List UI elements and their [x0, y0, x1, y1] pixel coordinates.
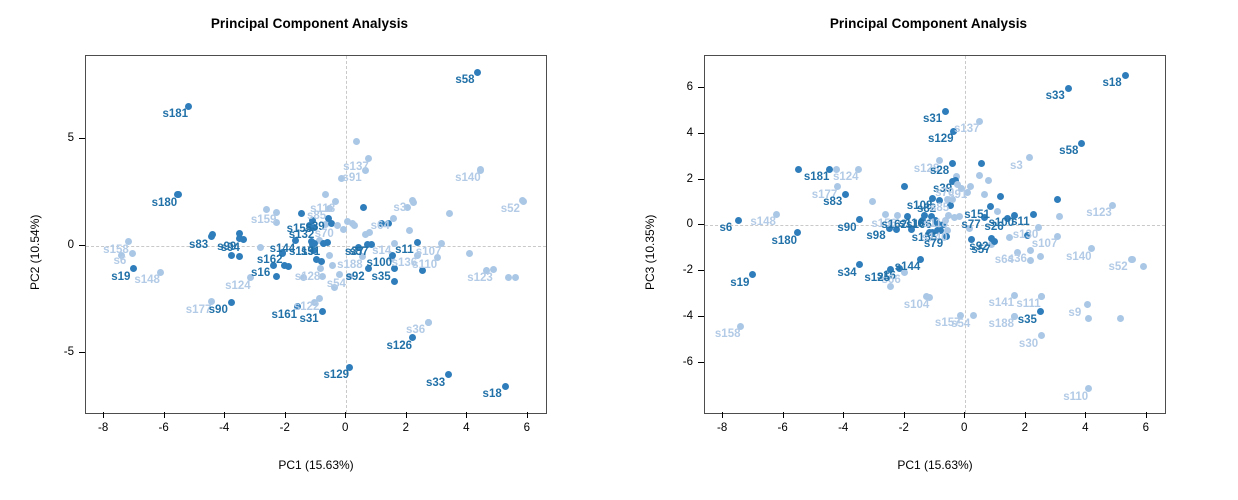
x-tick-mark [843, 412, 844, 418]
point-label: s125 [864, 273, 890, 285]
point-label: s107 [1032, 239, 1058, 251]
scatter-point [997, 193, 1004, 200]
y-tick-mark [698, 316, 704, 317]
scatter-point [976, 172, 983, 179]
pca-figure: Principal Component Analysis s58s181s137… [0, 0, 1238, 500]
y-axis-title: PC3 (10.35%) [643, 215, 657, 290]
point-label: s34 [837, 268, 856, 280]
scatter-point [1085, 315, 1092, 322]
point-label: s98 [866, 231, 885, 243]
scatter-point [520, 198, 527, 205]
y-tick-label: -2 [683, 264, 693, 276]
point-label: s35 [1018, 315, 1037, 327]
point-label: s124 [833, 172, 859, 184]
point-label: s33 [1046, 91, 1065, 103]
point-label: s18 [1102, 78, 1121, 90]
point-label: s57 [971, 245, 990, 257]
plot-area-pc1-pc2: s58s181s137s91s140s180s118s3s52s85s159s6… [85, 55, 547, 414]
point-label: s118 [923, 219, 948, 231]
point-label: s30 [1019, 339, 1038, 351]
point-label: s31 [923, 114, 942, 126]
scatter-point [263, 206, 270, 213]
point-label: s70 [315, 229, 334, 241]
y-tick-label: 0 [687, 218, 693, 230]
panel-title: Principal Component Analysis [0, 16, 619, 31]
scatter-point [1038, 332, 1045, 339]
x-tick-label: -4 [838, 422, 848, 434]
y-axis-title: PC2 (10.54%) [28, 215, 42, 290]
point-label: s52 [1109, 262, 1128, 274]
point-label: s177 [186, 305, 212, 317]
y-tick-mark [698, 133, 704, 134]
scatter-point [406, 227, 413, 234]
point-label: s58 [455, 75, 474, 87]
scatter-point [1037, 253, 1044, 260]
x-tick-label: 6 [524, 422, 530, 434]
scatter-point [329, 262, 336, 269]
point-label: s90 [209, 305, 228, 317]
scatter-point [991, 238, 998, 245]
point-label: s58 [1059, 146, 1078, 158]
point-label: s77 [961, 220, 980, 232]
point-label: s137 [954, 124, 980, 136]
x-tick-label: -2 [280, 422, 290, 434]
point-label: s52 [501, 204, 520, 216]
point-label: s94 [221, 243, 240, 255]
scatter-point [942, 108, 949, 115]
scatter-point [1056, 213, 1063, 220]
scatter-point [978, 160, 985, 167]
point-label: s162 [257, 255, 283, 267]
point-label: s83 [189, 240, 208, 252]
scatter-point [856, 261, 863, 268]
x-tick-label: 2 [403, 422, 409, 434]
x-tick-label: -8 [717, 422, 727, 434]
scatter-point [351, 222, 358, 229]
x-tick-mark [1085, 412, 1086, 418]
x-tick-label: 0 [961, 422, 967, 434]
scatter-point [1084, 301, 1091, 308]
scatter-point [512, 274, 519, 281]
plot-inner: s58s181s137s91s140s180s118s3s52s85s159s6… [86, 56, 546, 413]
y-tick-mark [698, 87, 704, 88]
y-tick-label: -5 [64, 346, 74, 358]
scatter-point [322, 191, 329, 198]
y-tick-mark [79, 352, 85, 353]
scatter-point [505, 274, 512, 281]
point-label: s92 [345, 272, 364, 284]
scatter-point [391, 278, 398, 285]
point-label: s36 [1008, 254, 1027, 266]
point-label: s128 [295, 272, 321, 284]
point-label: s14 [372, 246, 391, 258]
scatter-point [240, 236, 247, 243]
point-label: s129 [323, 370, 349, 382]
point-label: s140 [455, 173, 481, 185]
point-label: s3 [1010, 161, 1023, 173]
point-label: s140 [1066, 252, 1092, 264]
scatter-point [228, 299, 235, 306]
scatter-point [1026, 154, 1033, 161]
y-tick-label: 5 [68, 132, 74, 144]
scatter-point [795, 166, 802, 173]
point-label: s124 [225, 281, 251, 293]
scatter-point [298, 210, 305, 217]
scatter-point [425, 319, 432, 326]
point-label: s161 [271, 310, 297, 322]
scatter-point [1117, 315, 1124, 322]
point-label: s6 [114, 256, 127, 268]
scatter-point [1128, 256, 1135, 263]
point-label: s11 [1011, 217, 1030, 229]
scatter-point [360, 204, 367, 211]
scatter-point [970, 312, 977, 319]
x-tick-mark [285, 412, 286, 418]
scatter-point [445, 371, 452, 378]
point-label: s11 [395, 245, 414, 257]
x-tick-label: -8 [98, 422, 108, 434]
point-label: s85 [930, 203, 949, 215]
point-label: s144 [895, 262, 921, 274]
y-tick-label: 0 [68, 239, 74, 251]
x-tick-label: 2 [1022, 422, 1028, 434]
x-axis-title: PC1 (15.63%) [278, 458, 353, 472]
point-label: s180 [152, 198, 178, 210]
point-label: s158 [715, 329, 741, 341]
y-tick-mark [79, 245, 85, 246]
x-tick-mark [466, 412, 467, 418]
x-tick-mark [722, 412, 723, 418]
scatter-point [1006, 234, 1013, 241]
scatter-point [273, 273, 280, 280]
point-label: s126 [386, 341, 412, 353]
scatter-point [842, 191, 849, 198]
scatter-point [901, 183, 908, 190]
scatter-point [1078, 140, 1085, 147]
y-tick-mark [698, 362, 704, 363]
point-label: s3 [393, 203, 406, 215]
point-label: s19 [730, 278, 749, 290]
scatter-point [967, 183, 974, 190]
scatter-point [1122, 72, 1129, 79]
x-tick-label: 0 [342, 422, 348, 434]
scatter-point [390, 215, 397, 222]
scatter-point [285, 263, 292, 270]
point-label: s110 [1063, 392, 1088, 404]
x-tick-label: -4 [219, 422, 229, 434]
point-label: s90 [837, 223, 856, 235]
scatter-point [949, 160, 956, 167]
scatter-point [318, 258, 325, 265]
x-tick-label: -6 [778, 422, 788, 434]
y-tick-mark [698, 224, 704, 225]
point-label: s31 [299, 314, 318, 326]
reference-line-x-zero [346, 56, 347, 413]
point-label: s129 [928, 134, 954, 146]
point-label: s159 [251, 215, 277, 227]
x-tick-mark [406, 412, 407, 418]
point-label: s36 [406, 325, 425, 337]
point-label: s91 [342, 173, 361, 185]
scatter-point [1140, 263, 1147, 270]
x-tick-mark [345, 412, 346, 418]
x-tick-mark [1146, 412, 1147, 418]
scatter-point [735, 217, 742, 224]
scatter-point [340, 226, 347, 233]
x-tick-mark [904, 412, 905, 418]
scatter-point [856, 216, 863, 223]
point-label: s79 [924, 239, 943, 251]
y-tick-label: -4 [683, 310, 693, 322]
scatter-point [474, 69, 481, 76]
y-tick-mark [698, 270, 704, 271]
point-label: s188 [988, 319, 1014, 331]
point-label: s110 [412, 260, 437, 272]
y-tick-label: -6 [683, 356, 693, 368]
scatter-point [129, 250, 136, 257]
point-label: s28 [930, 166, 949, 178]
point-label: s181 [804, 172, 830, 184]
point-label: s111 [1016, 299, 1040, 311]
point-label: s148 [750, 217, 776, 229]
scatter-point [208, 233, 215, 240]
point-label: s64 [371, 221, 390, 233]
x-tick-mark [527, 412, 528, 418]
point-label: s6 [719, 223, 732, 235]
plot-inner: s18s33s31s129s137s58s181s124s128s28s3s17… [705, 56, 1165, 413]
scatter-point [502, 383, 509, 390]
x-tick-mark [224, 412, 225, 418]
scatter-point [1030, 211, 1037, 218]
pca-panel-pc1-pc2: Principal Component Analysis s58s181s137… [0, 0, 619, 500]
x-tick-label: -2 [899, 422, 909, 434]
point-label: s180 [772, 236, 798, 248]
scatter-point [466, 250, 473, 257]
point-label: s9 [1068, 308, 1081, 320]
x-tick-label: 4 [1082, 422, 1088, 434]
x-tick-mark [103, 412, 104, 418]
x-tick-mark [164, 412, 165, 418]
scatter-point [326, 252, 333, 259]
scatter-point [319, 308, 326, 315]
scatter-point [1065, 85, 1072, 92]
scatter-point [1027, 257, 1034, 264]
point-label: s51 [301, 247, 320, 259]
scatter-point [336, 271, 343, 278]
point-label: s91 [948, 190, 967, 202]
y-tick-label: 6 [687, 81, 693, 93]
scatter-point [749, 271, 756, 278]
x-tick-label: 4 [463, 422, 469, 434]
scatter-point [1054, 196, 1061, 203]
scatter-point [353, 138, 360, 145]
x-tick-label: 6 [1143, 422, 1149, 434]
point-label: s19 [111, 272, 130, 284]
point-label: s181 [162, 109, 188, 121]
point-label: s123 [1086, 208, 1112, 220]
scatter-point [985, 177, 992, 184]
scatter-point [446, 210, 453, 217]
point-label: s188 [337, 260, 363, 272]
point-label: s54 [951, 319, 970, 331]
point-label: s122 [294, 302, 320, 314]
scatter-point [130, 265, 137, 272]
scatter-point [981, 191, 988, 198]
point-label: s104 [904, 300, 930, 312]
point-label: s16 [251, 268, 270, 280]
point-label: s123 [467, 273, 493, 285]
pca-panel-pc1-pc3: Principal Component Analysis s18s33s31s1… [619, 0, 1238, 500]
point-label: s54 [327, 279, 346, 291]
x-tick-mark [1025, 412, 1026, 418]
y-tick-mark [698, 179, 704, 180]
scatter-point [869, 198, 876, 205]
y-tick-label: 2 [687, 173, 693, 185]
point-label: s26 [984, 222, 1003, 234]
reference-line-x-zero [965, 56, 966, 413]
point-label: s18 [483, 389, 502, 401]
point-label: s107 [416, 247, 442, 259]
point-label: s100 [366, 258, 392, 270]
x-tick-label: -6 [159, 422, 169, 434]
y-tick-mark [79, 138, 85, 139]
panel-title: Principal Component Analysis [619, 16, 1238, 31]
y-tick-label: 4 [687, 127, 693, 139]
x-tick-mark [783, 412, 784, 418]
plot-area-pc1-pc3: s18s33s31s129s137s58s181s124s128s28s3s17… [704, 55, 1166, 414]
point-label: s33 [426, 378, 445, 390]
point-label: s83 [823, 197, 842, 209]
point-label: s148 [134, 275, 160, 287]
point-label: s141 [988, 298, 1014, 310]
scatter-point [257, 244, 264, 251]
scatter-point [994, 208, 1001, 215]
point-label: s132 [289, 230, 315, 242]
x-tick-mark [964, 412, 965, 418]
point-label: s35 [371, 272, 390, 284]
x-axis-title: PC1 (15.63%) [897, 458, 972, 472]
